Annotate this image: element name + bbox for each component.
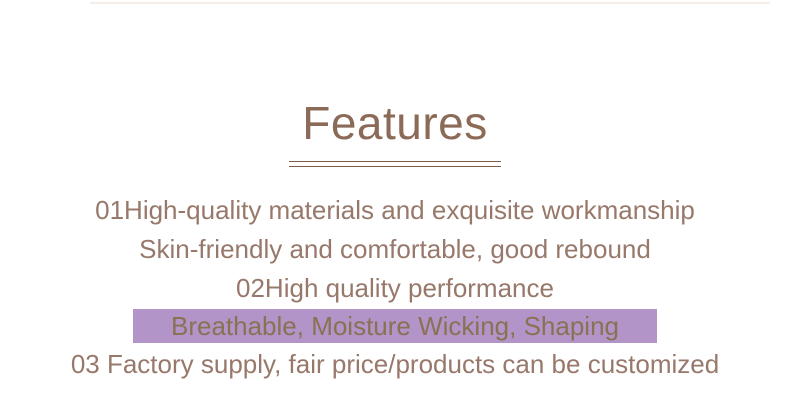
feature-line-5: 03 Factory supply, fair price/products c… bbox=[0, 345, 790, 384]
title-divider bbox=[289, 161, 501, 168]
feature-line-2: Skin-friendly and comfortable, good rebo… bbox=[0, 230, 790, 269]
features-page: Features 01High-quality materials and ex… bbox=[0, 0, 790, 408]
feature-list: 01High-quality materials and exquisite w… bbox=[0, 191, 790, 384]
page-title: Features bbox=[0, 96, 790, 150]
top-divider-rule bbox=[90, 2, 770, 4]
feature-line-4-highlight: Breathable, Moisture Wicking, Shaping bbox=[133, 309, 657, 343]
divider-line-top bbox=[289, 161, 501, 162]
feature-line-1: 01High-quality materials and exquisite w… bbox=[0, 191, 790, 230]
feature-line-3: 02High quality performance bbox=[0, 269, 790, 308]
feature-line-4: Breathable, Moisture Wicking, Shaping bbox=[0, 309, 790, 343]
divider-line-bottom bbox=[289, 166, 501, 167]
